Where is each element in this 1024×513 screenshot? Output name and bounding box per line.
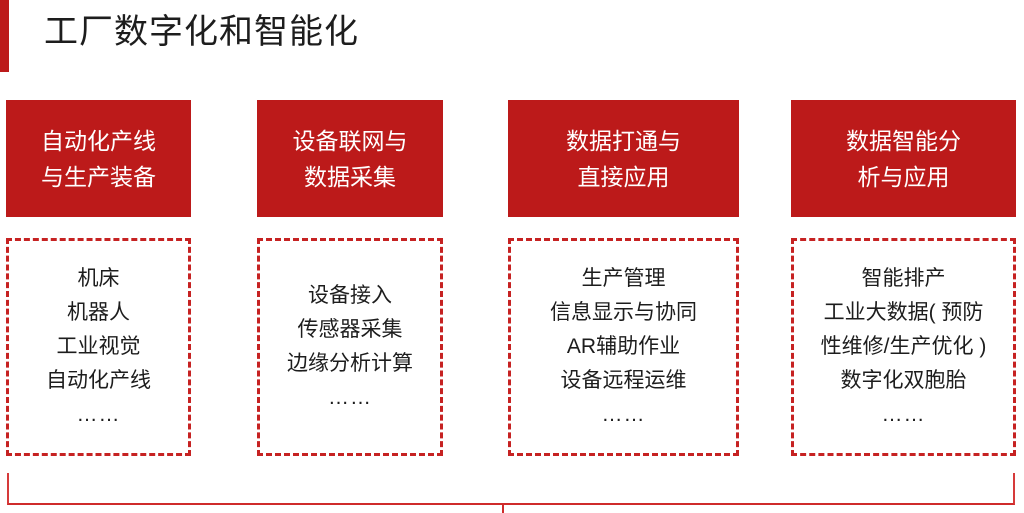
detail-box-data-integration[interactable]: 生产管理 信息显示与协同 AR辅助作业 设备远程运维 …… bbox=[508, 238, 739, 456]
column-1: 自动化产线 与生产装备 bbox=[6, 100, 191, 217]
column-3: 数据打通与 直接应用 bbox=[508, 100, 739, 217]
detail-line: 工业视觉 bbox=[57, 330, 141, 364]
detail-line: 数字化双胞胎 bbox=[841, 364, 967, 398]
header-box-automation[interactable]: 自动化产线 与生产装备 bbox=[6, 100, 191, 217]
detail-line: 机器人 bbox=[67, 296, 130, 330]
detail-line: 设备接入 bbox=[308, 279, 392, 313]
bottom-bracket bbox=[7, 473, 1015, 505]
column-2: 设备联网与 数据采集 bbox=[257, 100, 443, 217]
bottom-bracket-stub bbox=[502, 505, 504, 513]
header-line: 设备联网与 bbox=[293, 123, 408, 159]
detail-line: 性维修/生产优化 ) bbox=[821, 330, 987, 364]
detail-line: 机床 bbox=[78, 262, 120, 296]
detail-line: 生产管理 bbox=[582, 262, 666, 296]
detail-line: 自动化产线 bbox=[46, 364, 151, 398]
header-line: 数据智能分 bbox=[846, 123, 961, 159]
detail-line-ellipsis: …… bbox=[602, 398, 646, 432]
header-line: 直接应用 bbox=[578, 159, 670, 195]
detail-box-connectivity[interactable]: 设备接入 传感器采集 边缘分析计算 …… bbox=[257, 238, 443, 456]
detail-box-data-analytics[interactable]: 智能排产 工业大数据( 预防 性维修/生产优化 ) 数字化双胞胎 …… bbox=[791, 238, 1016, 456]
header-line: 数据采集 bbox=[304, 159, 396, 195]
header-box-data-analytics[interactable]: 数据智能分 析与应用 bbox=[791, 100, 1016, 217]
detail-line-ellipsis: …… bbox=[328, 381, 372, 415]
detail-box-automation[interactable]: 机床 机器人 工业视觉 自动化产线 …… bbox=[6, 238, 191, 456]
detail-line: 设备远程运维 bbox=[561, 364, 687, 398]
header-box-connectivity[interactable]: 设备联网与 数据采集 bbox=[257, 100, 443, 217]
detail-line: 工业大数据( 预防 bbox=[824, 296, 984, 330]
detail-line: 传感器采集 bbox=[298, 313, 403, 347]
header-line: 数据打通与 bbox=[566, 123, 681, 159]
detail-line: 智能排产 bbox=[862, 262, 946, 296]
detail-line-ellipsis: …… bbox=[882, 398, 926, 432]
header-box-data-integration[interactable]: 数据打通与 直接应用 bbox=[508, 100, 739, 217]
detail-line: 信息显示与协同 bbox=[550, 296, 697, 330]
header-line: 与生产装备 bbox=[41, 159, 156, 195]
detail-line: AR辅助作业 bbox=[567, 330, 680, 364]
title-accent-bar bbox=[0, 0, 9, 72]
detail-line: 边缘分析计算 bbox=[287, 347, 413, 381]
detail-line-ellipsis: …… bbox=[77, 398, 121, 432]
header-line: 自动化产线 bbox=[41, 123, 156, 159]
header-line: 析与应用 bbox=[858, 159, 950, 195]
column-4: 数据智能分 析与应用 bbox=[791, 100, 1016, 217]
title-area: 工厂数字化和智能化 bbox=[0, 0, 1024, 88]
page-title: 工厂数字化和智能化 bbox=[44, 8, 359, 56]
